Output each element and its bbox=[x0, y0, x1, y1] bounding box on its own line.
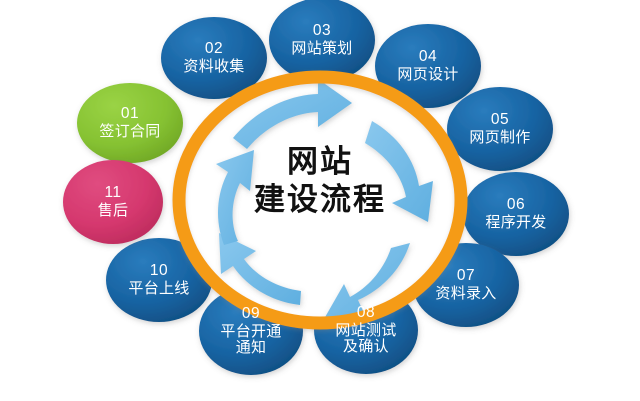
process-node-number: 02 bbox=[205, 41, 223, 58]
process-node-07[interactable]: 07资料录入 bbox=[413, 243, 519, 327]
infographic-canvas: 01签订合同02资料收集03网站策划04网页设计05网页制作06程序开发07资料… bbox=[0, 0, 640, 401]
process-node-label: 平台上线 bbox=[128, 281, 189, 297]
process-node-label: 平台开通 通知 bbox=[220, 324, 281, 356]
process-node-11[interactable]: 11售后 bbox=[63, 160, 163, 244]
center-title: 网站 建设流程 bbox=[206, 143, 434, 219]
process-node-label: 网站测试 及确认 bbox=[335, 323, 396, 355]
process-node-05[interactable]: 05网页制作 bbox=[447, 87, 553, 171]
process-node-number: 03 bbox=[313, 23, 331, 40]
process-node-label: 资料收集 bbox=[183, 59, 244, 75]
process-node-label: 程序开发 bbox=[485, 215, 546, 231]
process-node-number: 08 bbox=[357, 305, 375, 322]
process-node-number: 09 bbox=[242, 306, 260, 323]
process-node-10[interactable]: 10平台上线 bbox=[106, 238, 212, 322]
process-node-number: 05 bbox=[491, 112, 509, 129]
process-node-label: 资料录入 bbox=[435, 286, 496, 302]
process-node-number: 01 bbox=[121, 106, 139, 123]
process-node-number: 06 bbox=[507, 197, 525, 214]
process-node-08[interactable]: 08网站测试 及确认 bbox=[314, 286, 418, 374]
process-node-label: 网页设计 bbox=[397, 67, 458, 83]
process-node-number: 10 bbox=[150, 263, 168, 280]
process-node-label: 网站策划 bbox=[291, 41, 352, 57]
process-node-label: 签订合同 bbox=[99, 124, 160, 140]
process-node-number: 07 bbox=[457, 268, 475, 285]
process-node-09[interactable]: 09平台开通 通知 bbox=[199, 287, 303, 375]
process-node-label: 售后 bbox=[98, 203, 129, 219]
process-node-label: 网页制作 bbox=[469, 130, 530, 146]
process-node-03[interactable]: 03网站策划 bbox=[269, 0, 375, 82]
process-node-number: 11 bbox=[104, 185, 121, 202]
process-node-02[interactable]: 02资料收集 bbox=[161, 17, 267, 99]
process-node-number: 04 bbox=[419, 49, 437, 66]
